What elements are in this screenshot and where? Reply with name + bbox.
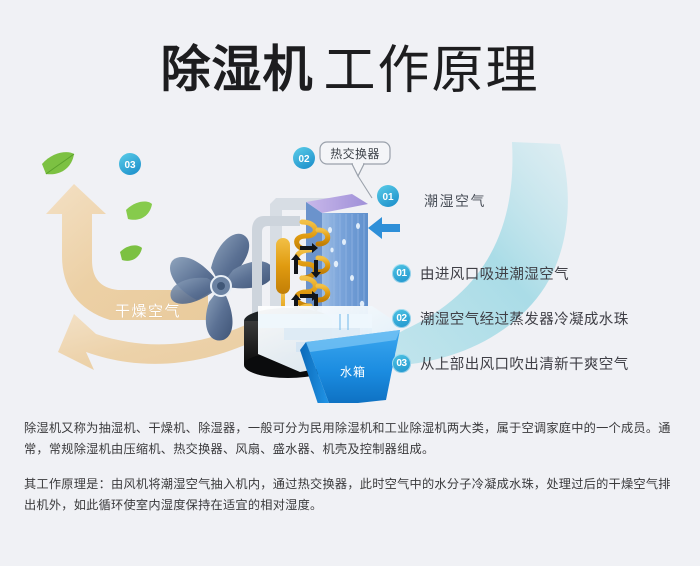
- description-text: 除湿机又称为抽湿机、干燥机、除湿器，一般可分为民用除湿机和工业除湿机两大类，属于…: [24, 418, 679, 530]
- diagram-badge-03: 03: [119, 153, 141, 175]
- legend-item-03: 03 从上部出风口吹出清新干爽空气: [392, 345, 692, 381]
- page-title-strong: 除湿机: [160, 42, 313, 98]
- diagram-badge-01: 01: [377, 185, 399, 207]
- page-root: 除湿机工作原理: [0, 0, 700, 566]
- dry-air-label: 干燥空气: [115, 303, 181, 320]
- legend-badge-02: 02: [392, 309, 411, 328]
- page-title-light: 工作原理: [323, 42, 539, 100]
- inlet-arrow-icon: [368, 217, 400, 239]
- legend-label-01: 由进风口吸进潮湿空气: [420, 263, 569, 284]
- leaf-icon: [120, 245, 142, 260]
- water-tank-label: 水箱: [340, 364, 366, 379]
- legend-badge-03: 03: [392, 354, 411, 373]
- svg-text:03: 03: [124, 160, 136, 171]
- description-paragraph-2: 其工作原理是：由风机将潮湿空气抽入机内，通过热交换器，此时空气中的水分子冷凝成水…: [24, 474, 679, 516]
- dehumidifier-unit: 压缩机 水箱: [244, 194, 400, 403]
- description-paragraph-1: 除湿机又称为抽湿机、干燥机、除湿器，一般可分为民用除湿机和工业除湿机两大类，属于…: [24, 418, 679, 460]
- svg-text:01: 01: [382, 192, 394, 203]
- page-title: 除湿机工作原理: [0, 28, 700, 103]
- diagram-badge-02: 02: [293, 147, 315, 169]
- heat-exchanger-callout-label: 热交换器: [330, 146, 380, 161]
- legend-list: 01 由进风口吸进潮湿空气 02 潮湿空气经过蒸发器冷凝成水珠 03 从上部出风…: [392, 255, 692, 390]
- legend-item-01: 01 由进风口吸进潮湿空气: [392, 255, 692, 291]
- leaf-icon: [126, 202, 152, 220]
- legend-item-02: 02 潮湿空气经过蒸发器冷凝成水珠: [392, 300, 692, 336]
- legend-badge-01: 01: [392, 264, 411, 283]
- humid-air-label: 潮湿空气: [424, 193, 486, 209]
- legend-label-03: 从上部出风口吹出清新干爽空气: [420, 353, 629, 374]
- leaf-icon: [42, 152, 74, 174]
- svg-text:02: 02: [298, 154, 310, 165]
- legend-label-02: 潮湿空气经过蒸发器冷凝成水珠: [420, 308, 629, 329]
